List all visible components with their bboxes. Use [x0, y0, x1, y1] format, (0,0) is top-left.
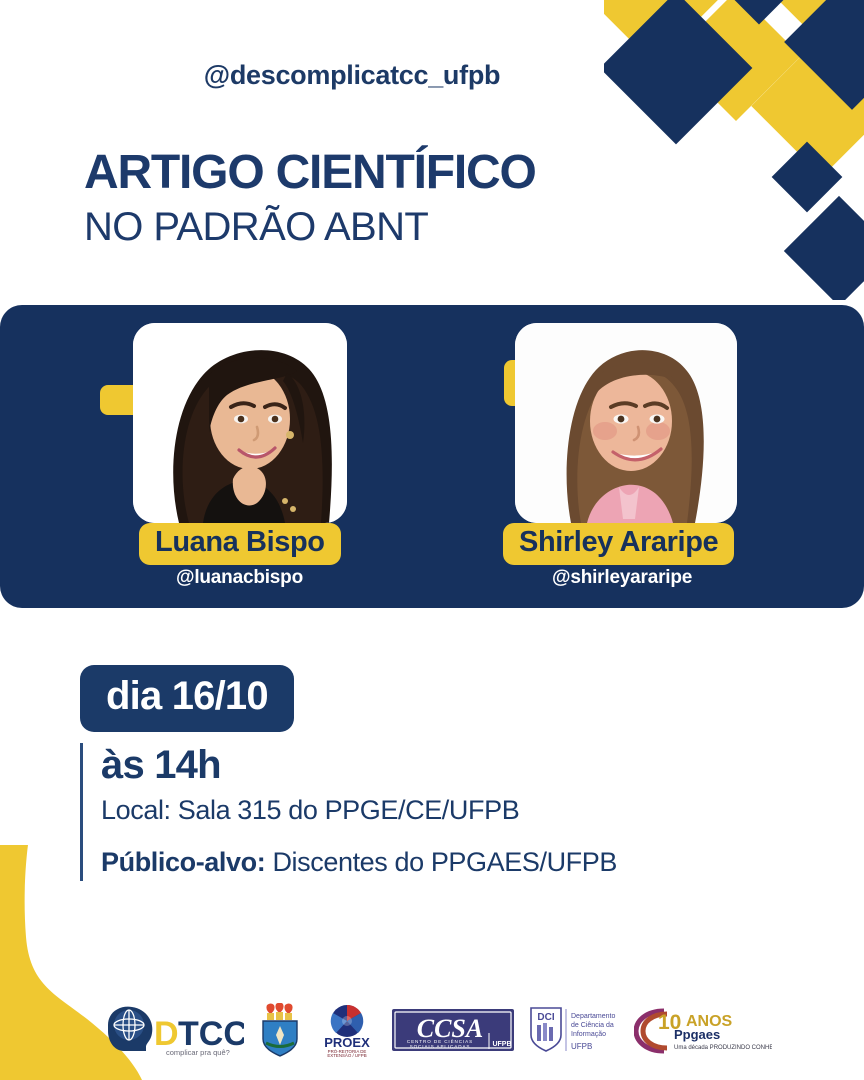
- speaker-name: Luana Bispo: [139, 523, 341, 565]
- svg-text:Informação: Informação: [571, 1031, 606, 1038]
- svg-text:complicar pra quê?: complicar pra quê?: [166, 1048, 230, 1057]
- svg-text:DCI: DCI: [537, 1012, 554, 1023]
- event-audience-value: Discentes do PPGAES/UFPB: [272, 847, 617, 877]
- logo-dtcc: D TCC complicar pra quê?: [102, 1003, 244, 1057]
- speaker-handle: @shirleyararipe: [552, 567, 692, 589]
- logo-ppgaes: 10 ANOS Ppgaes Uma década PRODUZINDO CON…: [634, 1005, 772, 1055]
- partner-logo-strip: D TCC complicar pra quê?: [0, 992, 864, 1068]
- svg-text:Uma década PRODUZINDO CONHECIM: Uma década PRODUZINDO CONHECIMENTOS: [674, 1045, 772, 1051]
- logo-dci: DCI Departamento de Ciência da Informaçã…: [528, 1005, 620, 1055]
- svg-text:EXTENSÃO / UFPB: EXTENSÃO / UFPB: [327, 1053, 366, 1057]
- title-subtitle: NO PADRÃO ABNT: [84, 206, 536, 248]
- svg-text:PROEX: PROEX: [324, 1035, 370, 1050]
- logo-ccsa: CCSA CENTRO DE CIÊNCIAS SOCIAIS APLICADA…: [392, 1007, 514, 1053]
- speakers-panel: Luana Bispo @luanacbispo: [0, 305, 864, 608]
- diamond-pattern-decoration: [604, 0, 864, 300]
- logo-ufpb: [258, 1003, 302, 1057]
- title-main: ARTIGO CIENTÍFICO: [84, 148, 536, 198]
- speaker-name: Shirley Araripe: [503, 523, 734, 565]
- event-location: Local: Sala 315 do PPGE/CE/UFPB: [101, 792, 617, 828]
- account-handle: @descomplicatcc_ufpb: [0, 60, 864, 91]
- svg-text:UFPB: UFPB: [571, 1042, 592, 1051]
- speaker-card-shirley-araripe: Shirley Araripe @shirleyararipe: [432, 305, 864, 608]
- event-poster: @descomplicatcc_ufpb ARTIGO CIENTÍFICO N…: [0, 0, 864, 1080]
- event-time: às 14h: [101, 743, 617, 788]
- svg-text:UFPB: UFPB: [492, 1041, 511, 1048]
- avatar: [515, 323, 737, 523]
- svg-text:Departamento: Departamento: [571, 1013, 615, 1020]
- page-title: ARTIGO CIENTÍFICO NO PADRÃO ABNT: [84, 148, 536, 248]
- event-audience: Público-alvo: Discentes do PPGAES/UFPB: [101, 844, 617, 880]
- svg-text:CENTRO DE CIÊNCIAS: CENTRO DE CIÊNCIAS: [407, 1037, 473, 1044]
- speaker-handle: @luanacbispo: [176, 567, 303, 589]
- svg-text:Ppgaes: Ppgaes: [674, 1027, 720, 1042]
- event-audience-label: Público-alvo:: [101, 847, 265, 877]
- logo-proex: PROEX PRÓ-REITORIA DE EXTENSÃO / UFPB: [316, 1003, 378, 1057]
- speaker-card-luana-bispo: Luana Bispo @luanacbispo: [0, 305, 432, 608]
- svg-text:SOCIAIS APLICADAS: SOCIAIS APLICADAS: [410, 1044, 471, 1049]
- event-details: às 14h Local: Sala 315 do PPGE/CE/UFPB P…: [80, 743, 617, 881]
- svg-text:de Ciência da: de Ciência da: [571, 1022, 614, 1029]
- avatar: [133, 323, 347, 523]
- event-date-badge: dia 16/10: [80, 665, 294, 732]
